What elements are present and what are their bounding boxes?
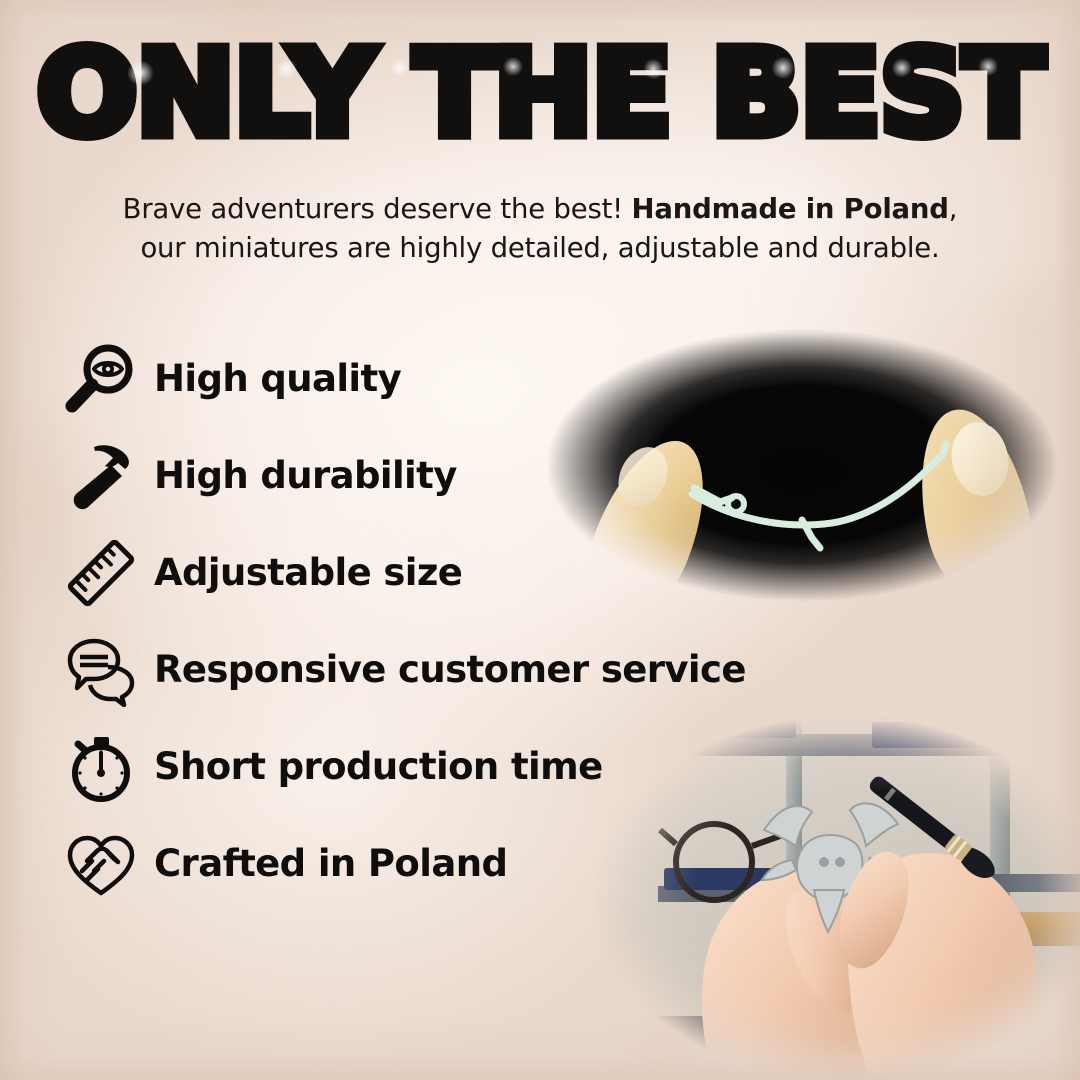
feature-item-customer-service: Responsive customer service bbox=[62, 621, 782, 718]
feature-list: High quality High durability bbox=[62, 330, 782, 912]
heart-handshake-icon bbox=[62, 825, 140, 903]
promo-poster: ONLY THE BEST Brave adventurers deserve … bbox=[0, 0, 1080, 1080]
feature-label: Responsive customer service bbox=[140, 648, 746, 691]
hammer-icon bbox=[62, 437, 140, 515]
subtitle-bold: Handmade in Poland bbox=[632, 193, 949, 225]
feature-label: High durability bbox=[140, 454, 457, 497]
feature-label: High quality bbox=[140, 357, 401, 400]
paintbrush bbox=[840, 760, 1020, 900]
stopwatch-icon bbox=[62, 728, 140, 806]
speech-bubbles-icon bbox=[62, 631, 140, 709]
page-title: ONLY THE BEST bbox=[0, 34, 1080, 152]
feature-item-adjustable-size: Adjustable size bbox=[62, 524, 782, 621]
feature-item-high-quality: High quality bbox=[62, 330, 782, 427]
subtitle: Brave adventurers deserve the best! Hand… bbox=[90, 190, 990, 268]
magnifier-eye-icon bbox=[62, 340, 140, 418]
feature-label: Short production time bbox=[140, 745, 603, 788]
subtitle-suffix: , bbox=[949, 193, 958, 225]
feature-label: Crafted in Poland bbox=[140, 842, 507, 885]
ruler-icon bbox=[62, 534, 140, 612]
subtitle-prefix: Brave adventurers deserve the best! bbox=[123, 193, 632, 225]
feature-item-high-durability: High durability bbox=[62, 427, 782, 524]
feature-item-production-time: Short production time bbox=[62, 718, 782, 815]
feature-label: Adjustable size bbox=[140, 551, 462, 594]
subtitle-line2: our miniatures are highly detailed, adju… bbox=[140, 232, 939, 264]
shelf-miniatures-top bbox=[872, 706, 1062, 726]
feature-item-crafted-in-poland: Crafted in Poland bbox=[62, 815, 782, 912]
